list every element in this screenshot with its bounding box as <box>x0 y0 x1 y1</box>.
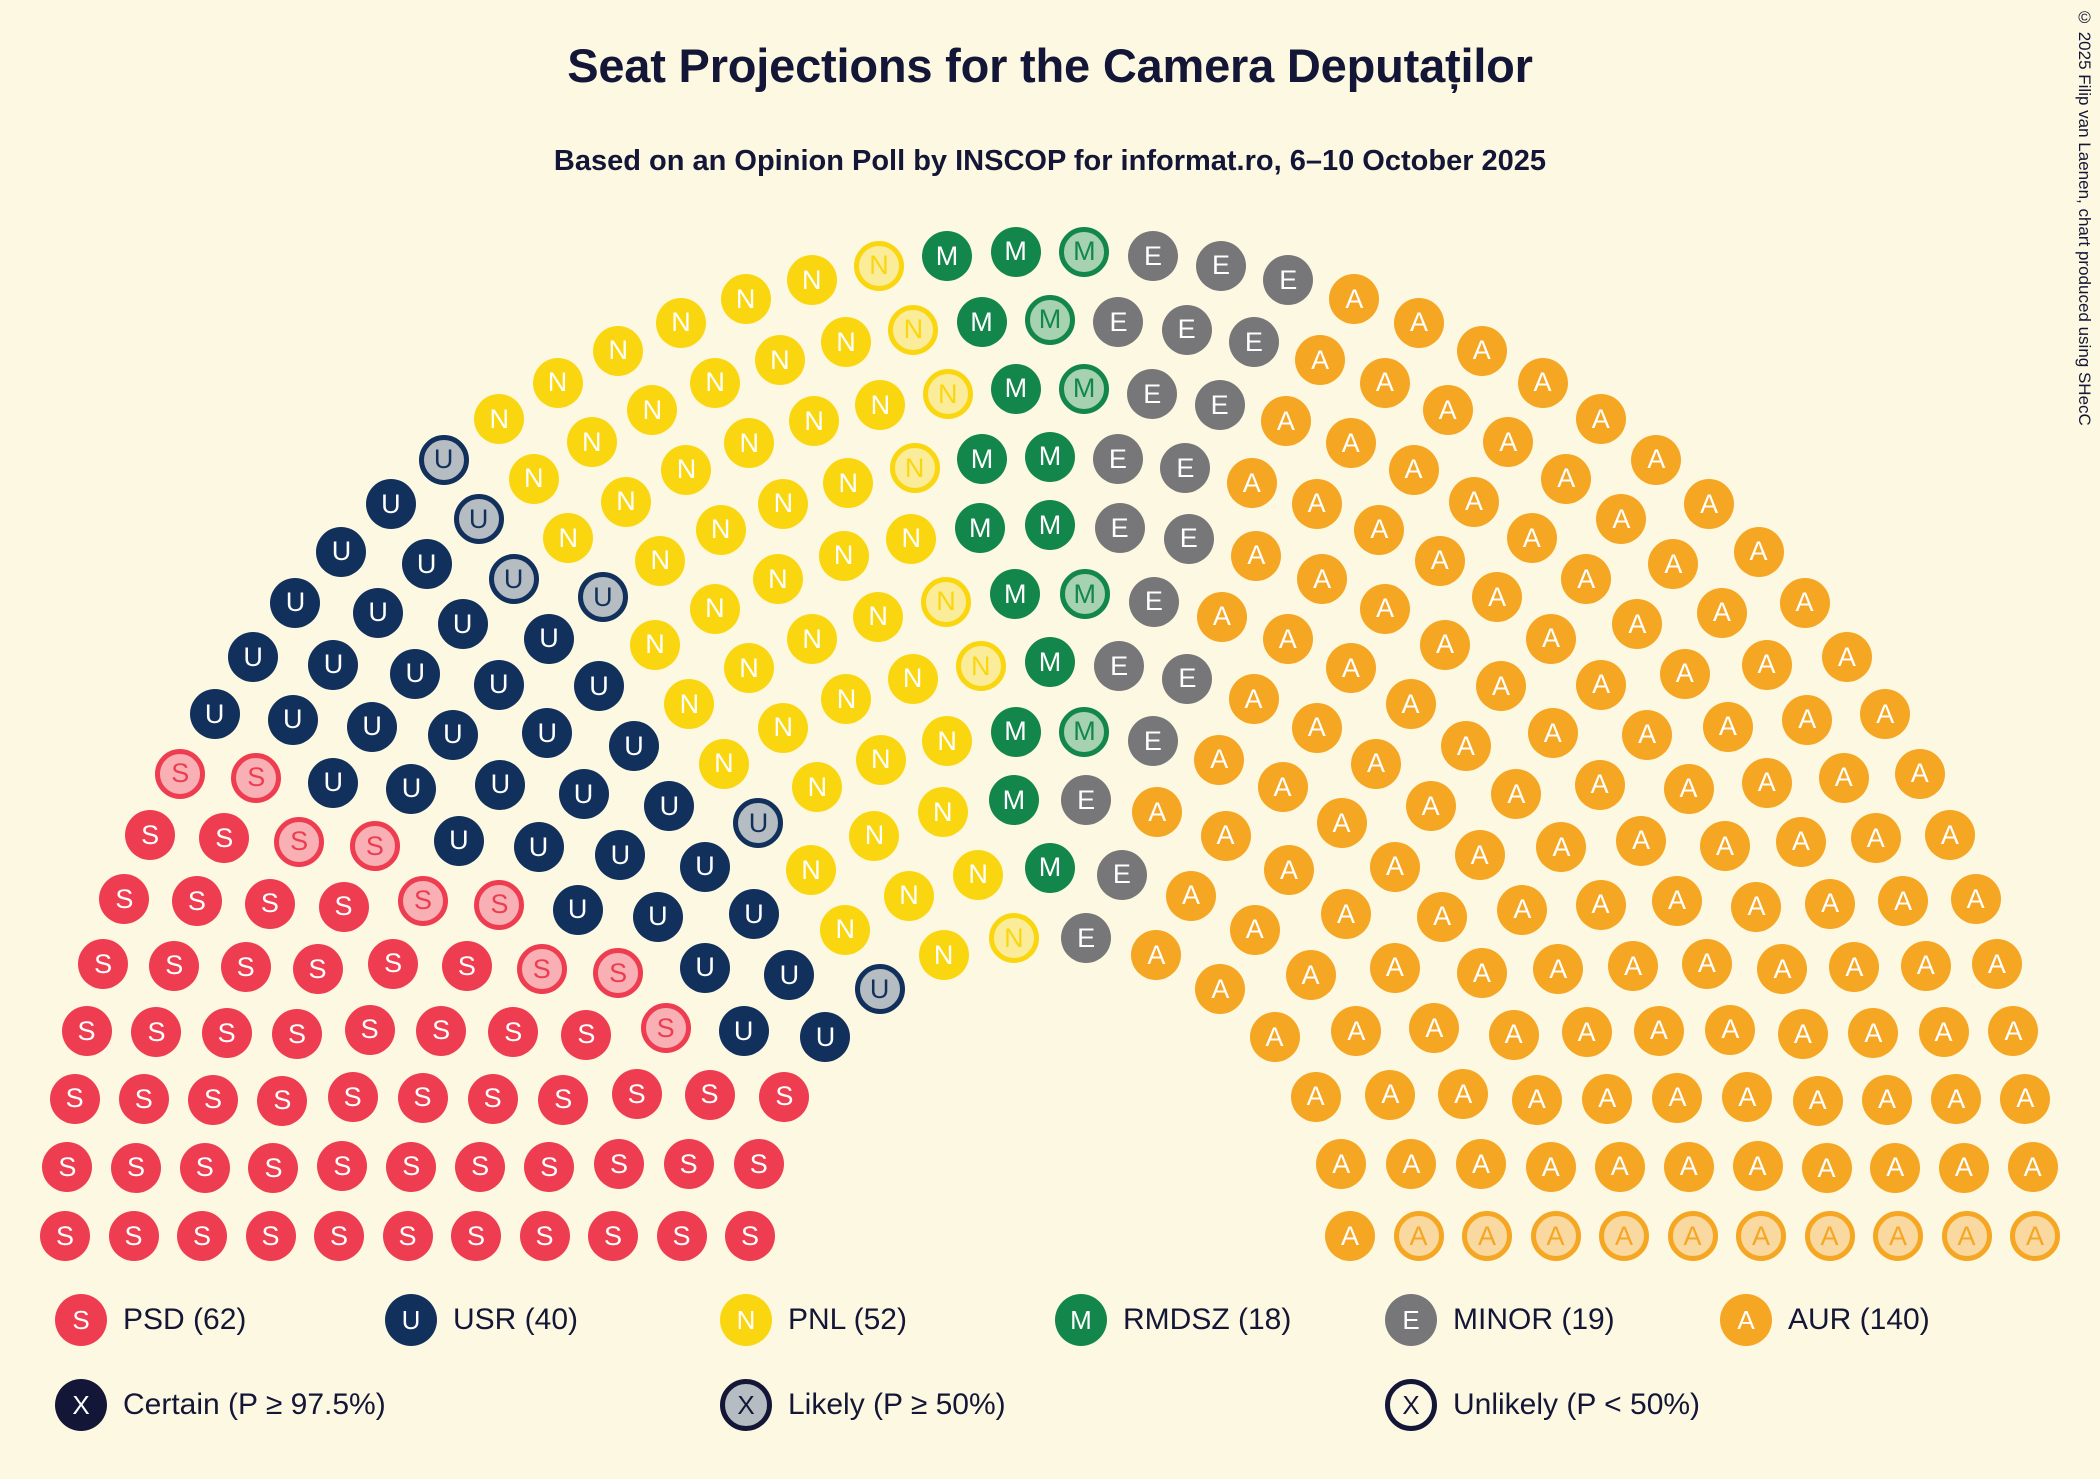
seat-usr-certain: U <box>680 943 730 993</box>
seat-aur-certain: A <box>1829 942 1879 992</box>
seat-psd-certain: S <box>314 1211 364 1261</box>
seat-aur-certain: A <box>1526 1142 1576 1192</box>
seat-psd-certain: S <box>62 1006 112 1056</box>
seat-pnl-certain: N <box>593 326 643 376</box>
seat-pnl-certain: N <box>821 317 871 367</box>
seat-psd-certain: S <box>149 941 199 991</box>
seat-pnl-certain: N <box>724 643 774 693</box>
seat-pnl-certain: N <box>758 479 808 529</box>
seat-aur-certain: A <box>1925 810 1975 860</box>
seat-aur-certain: A <box>1705 1005 1755 1055</box>
seat-psd-certain: S <box>131 1007 181 1057</box>
seat-usr-certain: U <box>308 758 358 808</box>
seat-aur-certain: A <box>1731 882 1781 932</box>
seat-pnl-certain: N <box>789 396 839 446</box>
seat-aur-certain: A <box>1860 689 1910 739</box>
seat-minor-certain: E <box>1095 503 1145 553</box>
seat-aur-certain: A <box>2008 1142 2058 1192</box>
seat-psd-certain: S <box>398 1073 448 1123</box>
seat-pnl-certain: N <box>819 531 869 581</box>
seat-aur-certain: A <box>1386 679 1436 729</box>
seat-rmdsz-certain: M <box>957 434 1007 484</box>
seat-minor-certain: E <box>1229 317 1279 367</box>
seat-aur-certain: A <box>2000 1074 2050 1124</box>
legend-swatch-minor-icon: E <box>1385 1294 1437 1346</box>
seat-aur-certain: A <box>1782 695 1832 745</box>
seat-usr-certain: U <box>574 661 624 711</box>
seat-aur-certain: A <box>1533 944 1583 994</box>
seat-minor-certain: E <box>1162 305 1212 355</box>
seat-pnl-certain: N <box>533 358 583 408</box>
seat-usr-certain: U <box>680 842 730 892</box>
seat-pnl-certain: N <box>696 505 746 555</box>
seat-aur-certain: A <box>1132 787 1182 837</box>
seat-psd-certain: S <box>468 1074 518 1124</box>
seat-aur-certain: A <box>1862 1075 1912 1125</box>
seat-aur-certain: A <box>1576 394 1626 444</box>
seat-usr-certain: U <box>729 889 779 939</box>
seat-minor-certain: E <box>1195 380 1245 430</box>
seat-aur-certain: A <box>1457 948 1507 998</box>
seat-rmdsz-certain: M <box>957 297 1007 347</box>
seat-aur-unlikely: A <box>2010 1211 2060 1261</box>
seat-pnl-certain: N <box>792 762 842 812</box>
seat-psd-certain: S <box>111 1143 161 1193</box>
seat-psd-certain: S <box>248 1143 298 1193</box>
seat-psd-certain: S <box>221 942 271 992</box>
seat-rmdsz-unlikely: M <box>1060 569 1110 619</box>
seat-aur-unlikely: A <box>1736 1211 1786 1261</box>
seat-psd-unlikely: S <box>474 880 524 930</box>
legend-party-rmdsz[interactable]: MRMDSZ (18) <box>1055 1289 1291 1351</box>
seat-aur-certain: A <box>1441 721 1491 771</box>
seat-psd-certain: S <box>416 1006 466 1056</box>
seat-minor-certain: E <box>1129 577 1179 627</box>
seat-aur-certain: A <box>1616 816 1666 866</box>
seat-rmdsz-certain: M <box>955 503 1005 553</box>
seat-aur-certain: A <box>1822 632 1872 682</box>
seat-aur-certain: A <box>1793 1076 1843 1126</box>
seat-pnl-certain: N <box>886 514 936 564</box>
seat-psd-certain: S <box>125 810 175 860</box>
seat-pnl-certain: N <box>724 418 774 468</box>
seat-aur-certain: A <box>1703 702 1753 752</box>
seat-usr-certain: U <box>268 695 318 745</box>
seat-psd-unlikely: S <box>274 817 324 867</box>
seat-usr-certain: U <box>228 632 278 682</box>
seat-rmdsz-certain: M <box>991 364 1041 414</box>
seat-psd-certain: S <box>328 1072 378 1122</box>
seat-usr-certain: U <box>390 649 440 699</box>
seat-psd-certain: S <box>524 1142 574 1192</box>
seat-aur-unlikely: A <box>1599 1211 1649 1261</box>
seat-minor-certain: E <box>1128 231 1178 281</box>
seat-pnl-unlikely: N <box>854 241 904 291</box>
seat-aur-unlikely: A <box>1531 1211 1581 1261</box>
seat-aur-certain: A <box>1394 298 1444 348</box>
seat-psd-unlikely: S <box>350 821 400 871</box>
seat-aur-certain: A <box>1489 1010 1539 1060</box>
seat-aur-certain: A <box>1131 930 1181 980</box>
legend-probability-label: Unlikely (P < 50%) <box>1453 1388 1700 1422</box>
seat-pnl-certain: N <box>699 739 749 789</box>
seat-aur-certain: A <box>1819 753 1869 803</box>
seat-usr-certain: U <box>438 599 488 649</box>
seat-aur-unlikely: A <box>1394 1211 1444 1261</box>
seat-rmdsz-certain: M <box>1025 432 1075 482</box>
seat-aur-certain: A <box>1370 943 1420 993</box>
seat-pnl-certain: N <box>474 394 524 444</box>
seat-aur-certain: A <box>1722 1072 1772 1122</box>
seat-aur-certain: A <box>1608 941 1658 991</box>
seat-aur-certain: A <box>1261 396 1311 446</box>
seat-aur-certain: A <box>1622 710 1672 760</box>
seat-pnl-certain: N <box>661 445 711 495</box>
seat-psd-certain: S <box>451 1211 501 1261</box>
seat-aur-certain: A <box>1409 1003 1459 1053</box>
seat-usr-certain: U <box>428 710 478 760</box>
seat-aur-certain: A <box>1582 1074 1632 1124</box>
seat-rmdsz-unlikely: M <box>1025 295 1075 345</box>
seat-aur-certain: A <box>1652 876 1702 926</box>
seat-psd-certain: S <box>588 1211 638 1261</box>
seat-aur-certain: A <box>1415 536 1465 586</box>
seat-aur-certain: A <box>1360 584 1410 634</box>
seat-aur-certain: A <box>1229 674 1279 724</box>
seat-pnl-certain: N <box>823 458 873 508</box>
seat-psd-certain: S <box>725 1211 775 1261</box>
seat-aur-certain: A <box>1325 1211 1375 1261</box>
seat-pnl-certain: N <box>856 735 906 785</box>
seat-aur-certain: A <box>1291 1072 1341 1122</box>
legend-party-label: PSD (62) <box>123 1303 246 1337</box>
legend-party-label: USR (40) <box>453 1303 578 1337</box>
seat-aur-certain: A <box>1660 649 1710 699</box>
legend-probability-label: Certain (P ≥ 97.5%) <box>123 1388 386 1422</box>
seat-minor-certain: E <box>1164 514 1214 564</box>
seat-aur-certain: A <box>1230 905 1280 955</box>
seat-psd-certain: S <box>172 876 222 926</box>
seat-aur-certain: A <box>1851 813 1901 863</box>
seat-minor-certain: E <box>1162 654 1212 704</box>
legend-swatch-unlikely-icon: X <box>1385 1379 1437 1431</box>
seat-minor-certain: E <box>1093 297 1143 347</box>
seat-pnl-certain: N <box>627 385 677 435</box>
seat-aur-certain: A <box>1742 640 1792 690</box>
seat-pnl-certain: N <box>787 255 837 305</box>
seat-usr-certain: U <box>644 781 694 831</box>
seat-rmdsz-certain: M <box>990 569 1040 619</box>
seat-pnl-certain: N <box>509 454 559 504</box>
legend-party-label: PNL (52) <box>788 1303 907 1337</box>
seat-aur-certain: A <box>1389 445 1439 495</box>
seat-aur-certain: A <box>1634 1006 1684 1056</box>
legend-swatch-likely-icon: X <box>720 1379 772 1431</box>
seat-aur-certain: A <box>1561 554 1611 604</box>
legend-probability-label: Likely (P ≥ 50%) <box>788 1388 1006 1422</box>
seat-aur-certain: A <box>1457 326 1507 376</box>
seat-minor-certain: E <box>1093 434 1143 484</box>
seat-aur-certain: A <box>1575 760 1625 810</box>
seat-psd-unlikely: S <box>517 944 567 994</box>
legend-party-psd[interactable]: SPSD (62) <box>55 1289 246 1351</box>
seat-pnl-unlikely: N <box>888 305 938 355</box>
seat-aur-certain: A <box>1317 798 1367 848</box>
seat-aur-unlikely: A <box>1462 1211 1512 1261</box>
seat-pnl-certain: N <box>721 274 771 324</box>
seat-aur-certain: A <box>1778 1009 1828 1059</box>
seat-psd-certain: S <box>734 1139 784 1189</box>
seat-psd-certain: S <box>386 1142 436 1192</box>
seat-aur-certain: A <box>1438 1069 1488 1119</box>
seat-aur-certain: A <box>1497 885 1547 935</box>
legend-probability-certain[interactable]: XCertain (P ≥ 97.5%) <box>55 1374 386 1436</box>
page-title: Seat Projections for the Camera Deputați… <box>0 38 2100 93</box>
seat-aur-certain: A <box>1295 335 1345 385</box>
seat-psd-certain: S <box>685 1070 735 1120</box>
legend-swatch-pnl-icon: N <box>720 1294 772 1346</box>
seat-aur-certain: A <box>1423 385 1473 435</box>
seat-aur-certain: A <box>1901 941 1951 991</box>
seat-rmdsz-certain: M <box>991 707 1041 757</box>
seat-usr-certain: U <box>308 640 358 690</box>
seat-usr-certain: U <box>595 830 645 880</box>
seat-psd-certain: S <box>180 1143 230 1193</box>
seat-psd-certain: S <box>40 1211 90 1261</box>
seat-aur-certain: A <box>1360 358 1410 408</box>
seat-pnl-certain: N <box>635 536 685 586</box>
seat-aur-certain: A <box>1406 781 1456 831</box>
legend-party-pnl[interactable]: NPNL (52) <box>720 1289 907 1351</box>
seat-psd-certain: S <box>759 1072 809 1122</box>
seat-pnl-certain: N <box>601 477 651 527</box>
seat-psd-certain: S <box>657 1211 707 1261</box>
seat-usr-likely: U <box>454 494 504 544</box>
seat-psd-certain: S <box>383 1211 433 1261</box>
seat-pnl-unlikely: N <box>921 577 971 627</box>
seat-aur-certain: A <box>1541 454 1591 504</box>
seat-aur-certain: A <box>1250 1012 1300 1062</box>
seat-aur-unlikely: A <box>1873 1211 1923 1261</box>
seat-pnl-certain: N <box>690 358 740 408</box>
seat-aur-certain: A <box>1321 889 1371 939</box>
seat-aur-certain: A <box>1988 1006 2038 1056</box>
seat-aur-certain: A <box>1195 964 1245 1014</box>
seat-aur-certain: A <box>1483 417 1533 467</box>
seat-aur-certain: A <box>1776 817 1826 867</box>
legend-party-label: AUR (140) <box>1788 1303 1930 1337</box>
seat-rmdsz-unlikely: M <box>1059 227 1109 277</box>
seat-aur-certain: A <box>1664 764 1714 814</box>
seat-psd-certain: S <box>488 1007 538 1057</box>
seat-rmdsz-certain: M <box>1025 637 1075 687</box>
seat-aur-certain: A <box>1664 1142 1714 1192</box>
seat-psd-certain: S <box>272 1009 322 1059</box>
seat-pnl-certain: N <box>820 905 870 955</box>
seat-aur-certain: A <box>1297 554 1347 604</box>
seat-psd-certain: S <box>202 1008 252 1058</box>
seat-pnl-certain: N <box>656 298 706 348</box>
seat-aur-certain: A <box>1386 1139 1436 1189</box>
seat-aur-certain: A <box>1231 531 1281 581</box>
seat-pnl-unlikely: N <box>923 369 973 419</box>
seat-pnl-certain: N <box>543 513 593 563</box>
seat-aur-certain: A <box>1848 1008 1898 1058</box>
seat-aur-certain: A <box>1596 494 1646 544</box>
seat-usr-certain: U <box>553 885 603 935</box>
seat-rmdsz-certain: M <box>922 231 972 281</box>
seat-psd-certain: S <box>612 1069 662 1119</box>
legend-swatch-rmdsz-icon: M <box>1055 1294 1107 1346</box>
seat-psd-certain: S <box>520 1211 570 1261</box>
seat-aur-certain: A <box>1939 1143 1989 1193</box>
seat-aur-certain: A <box>1870 1143 1920 1193</box>
probability-legend: XCertain (P ≥ 97.5%)XLikely (P ≥ 50%)XUn… <box>0 1374 2100 1444</box>
seat-aur-certain: A <box>1286 950 1336 1000</box>
seat-aur-certain: A <box>1329 274 1379 324</box>
seat-aur-certain: A <box>1258 762 1308 812</box>
seat-aur-certain: A <box>1166 871 1216 921</box>
seat-aur-certain: A <box>1449 477 1499 527</box>
seat-pnl-certain: N <box>821 674 871 724</box>
seat-pnl-certain: N <box>855 380 905 430</box>
seat-aur-certain: A <box>1805 879 1855 929</box>
seat-psd-certain: S <box>538 1075 588 1125</box>
seat-aur-certain: A <box>1919 1007 1969 1057</box>
seat-minor-certain: E <box>1061 775 1111 825</box>
seat-usr-likely: U <box>489 554 539 604</box>
legend-swatch-usr-icon: U <box>385 1294 437 1346</box>
seat-pnl-certain: N <box>630 620 680 670</box>
seat-pnl-certain: N <box>953 850 1003 900</box>
seat-psd-certain: S <box>109 1211 159 1261</box>
seat-aur-certain: A <box>1331 1006 1381 1056</box>
seat-psd-unlikely: S <box>155 749 205 799</box>
seat-minor-certain: E <box>1094 641 1144 691</box>
seat-aur-certain: A <box>1576 660 1626 710</box>
seat-psd-unlikely: S <box>593 948 643 998</box>
legend-probability-unlikely[interactable]: XUnlikely (P < 50%) <box>1385 1374 1700 1436</box>
seat-aur-certain: A <box>1652 1073 1702 1123</box>
seat-aur-unlikely: A <box>1668 1211 1718 1261</box>
seat-aur-certain: A <box>1326 643 1376 693</box>
seat-usr-certain: U <box>270 578 320 628</box>
legend-probability-likely[interactable]: XLikely (P ≥ 50%) <box>720 1374 1006 1436</box>
seat-aur-certain: A <box>1351 739 1401 789</box>
seat-aur-certain: A <box>1526 614 1576 664</box>
seat-pnl-certain: N <box>786 845 836 895</box>
seat-pnl-certain: N <box>849 811 899 861</box>
seat-psd-certain: S <box>561 1010 611 1060</box>
seat-aur-certain: A <box>1194 735 1244 785</box>
seat-minor-certain: E <box>1127 369 1177 419</box>
seat-usr-certain: U <box>514 822 564 872</box>
seat-rmdsz-certain: M <box>991 227 1041 277</box>
seat-aur-certain: A <box>1507 513 1557 563</box>
seat-rmdsz-certain: M <box>989 775 1039 825</box>
legend-swatch-psd-icon: S <box>55 1294 107 1346</box>
seat-pnl-certain: N <box>853 592 903 642</box>
seat-usr-likely: U <box>855 964 905 1014</box>
seat-psd-certain: S <box>345 1005 395 1055</box>
legend-party-label: MINOR (19) <box>1453 1303 1615 1337</box>
seat-usr-certain: U <box>522 708 572 758</box>
seat-usr-likely: U <box>419 435 469 485</box>
seat-aur-certain: A <box>1733 1141 1783 1191</box>
seat-usr-certain: U <box>475 760 525 810</box>
seat-aur-certain: A <box>1742 758 1792 808</box>
seat-psd-certain: S <box>257 1076 307 1126</box>
seat-usr-certain: U <box>316 527 366 577</box>
legend-party-minor[interactable]: EMINOR (19) <box>1385 1289 1615 1351</box>
seat-psd-certain: S <box>42 1142 92 1192</box>
seat-psd-certain: S <box>78 939 128 989</box>
seat-usr-certain: U <box>474 660 524 710</box>
seat-psd-certain: S <box>664 1139 714 1189</box>
seat-psd-unlikely: S <box>641 1003 691 1053</box>
seat-psd-certain: S <box>317 1141 367 1191</box>
seat-aur-certain: A <box>1972 939 2022 989</box>
seat-pnl-certain: N <box>567 417 617 467</box>
seat-psd-certain: S <box>245 879 295 929</box>
seat-aur-certain: A <box>1417 892 1467 942</box>
seat-minor-certain: E <box>1061 913 1111 963</box>
seat-aur-certain: A <box>1472 572 1522 622</box>
seat-aur-certain: A <box>1562 1007 1612 1057</box>
seat-psd-certain: S <box>319 882 369 932</box>
seat-aur-certain: A <box>1197 592 1247 642</box>
seat-pnl-unlikely: N <box>989 913 1039 963</box>
seat-aur-certain: A <box>1365 1070 1415 1120</box>
seat-psd-certain: S <box>442 941 492 991</box>
seat-psd-certain: S <box>188 1075 238 1125</box>
seat-psd-certain: S <box>50 1074 100 1124</box>
seat-psd-certain: S <box>455 1142 505 1192</box>
seat-usr-certain: U <box>402 539 452 589</box>
hemicycle-seating-chart: SSSSSSSSSSSSSSSSSSSSSSSSSSSSSSSSSSSSSSSS… <box>0 196 2100 1256</box>
seat-usr-certain: U <box>190 689 240 739</box>
seat-minor-certain: E <box>1196 241 1246 291</box>
seat-usr-likely: U <box>578 572 628 622</box>
seat-aur-certain: A <box>1802 1143 1852 1193</box>
seat-aur-certain: A <box>1326 418 1376 468</box>
seat-pnl-unlikely: N <box>956 641 1006 691</box>
seat-aur-certain: A <box>1595 1142 1645 1192</box>
seat-rmdsz-unlikely: M <box>1059 707 1109 757</box>
seat-aur-certain: A <box>1227 458 1277 508</box>
seat-aur-certain: A <box>1895 749 1945 799</box>
legend-swatch-aur-icon: A <box>1720 1294 1772 1346</box>
seat-aur-unlikely: A <box>1805 1211 1855 1261</box>
seat-usr-certain: U <box>353 588 403 638</box>
seat-psd-certain: S <box>246 1211 296 1261</box>
seat-aur-certain: A <box>1878 876 1928 926</box>
seat-usr-likely: U <box>733 798 783 848</box>
seat-aur-certain: A <box>1700 821 1750 871</box>
seat-aur-certain: A <box>1536 822 1586 872</box>
seat-aur-certain: A <box>1354 505 1404 555</box>
seat-aur-certain: A <box>1780 578 1830 628</box>
seat-aur-certain: A <box>1456 1139 1506 1189</box>
seat-usr-certain: U <box>524 614 574 664</box>
legend-party-aur[interactable]: AAUR (140) <box>1720 1289 1930 1351</box>
legend-party-usr[interactable]: UUSR (40) <box>385 1289 578 1351</box>
seat-usr-certain: U <box>366 479 416 529</box>
seat-rmdsz-unlikely: M <box>1059 364 1109 414</box>
seat-psd-certain: S <box>99 874 149 924</box>
seat-minor-certain: E <box>1128 716 1178 766</box>
seat-psd-unlikely: S <box>231 753 281 803</box>
